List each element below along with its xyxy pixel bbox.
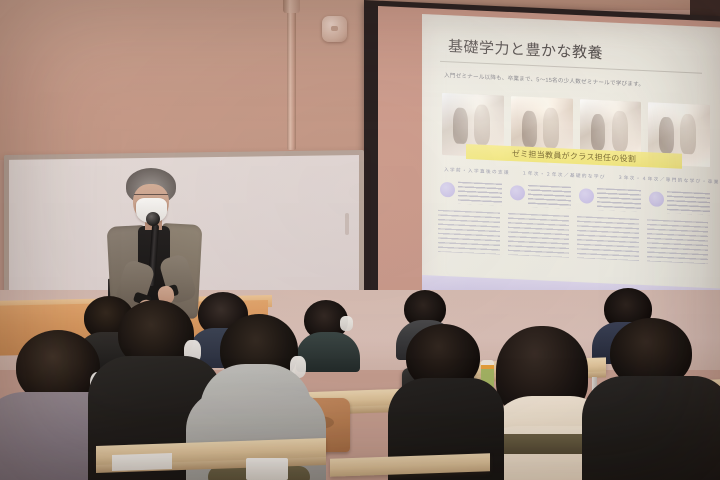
circle-icon [440, 182, 455, 198]
wall-conduit-cap [283, 0, 300, 13]
face-mask-icon [340, 316, 353, 331]
slide-column-1 [438, 180, 502, 278]
student-body [582, 376, 720, 480]
wall-conduit [287, 0, 296, 150]
microphone-icon [146, 212, 160, 226]
slide-column-3 [577, 186, 641, 284]
student-front-black-right [592, 318, 720, 480]
slide-column-2 [508, 183, 572, 281]
whiteboard-clip [345, 213, 349, 235]
slide-columns [438, 180, 710, 287]
white-box-on-desk [246, 458, 288, 480]
circle-icon [510, 185, 525, 201]
back-wall [0, 0, 372, 160]
slide-subtitle: 入門ゼミナール以降も、卒業まで、5〜15名の少人数ゼミナールで学びます。 [444, 71, 644, 88]
circle-icon [649, 191, 664, 207]
presentation-slide: 基礎学力と豊かな教養 入門ゼミナール以降も、卒業まで、5〜15名の少人数ゼミナー… [422, 14, 720, 313]
slide-column-4 [647, 189, 711, 287]
slide-title: 基礎学力と豊かな教養 [448, 35, 603, 63]
speaker-grille [331, 26, 338, 31]
slide-highlight-text: ゼミ担当教員がクラス担任の役割 [512, 148, 636, 165]
ceiling-speaker-icon [322, 16, 347, 42]
lecture-hall-screenshot: 基礎学力と豊かな教養 入門ゼミナール以降も、卒業まで、5〜15名の少人数ゼミナー… [0, 0, 720, 480]
white-papers-on-desk [112, 453, 172, 471]
circle-icon [579, 188, 594, 204]
